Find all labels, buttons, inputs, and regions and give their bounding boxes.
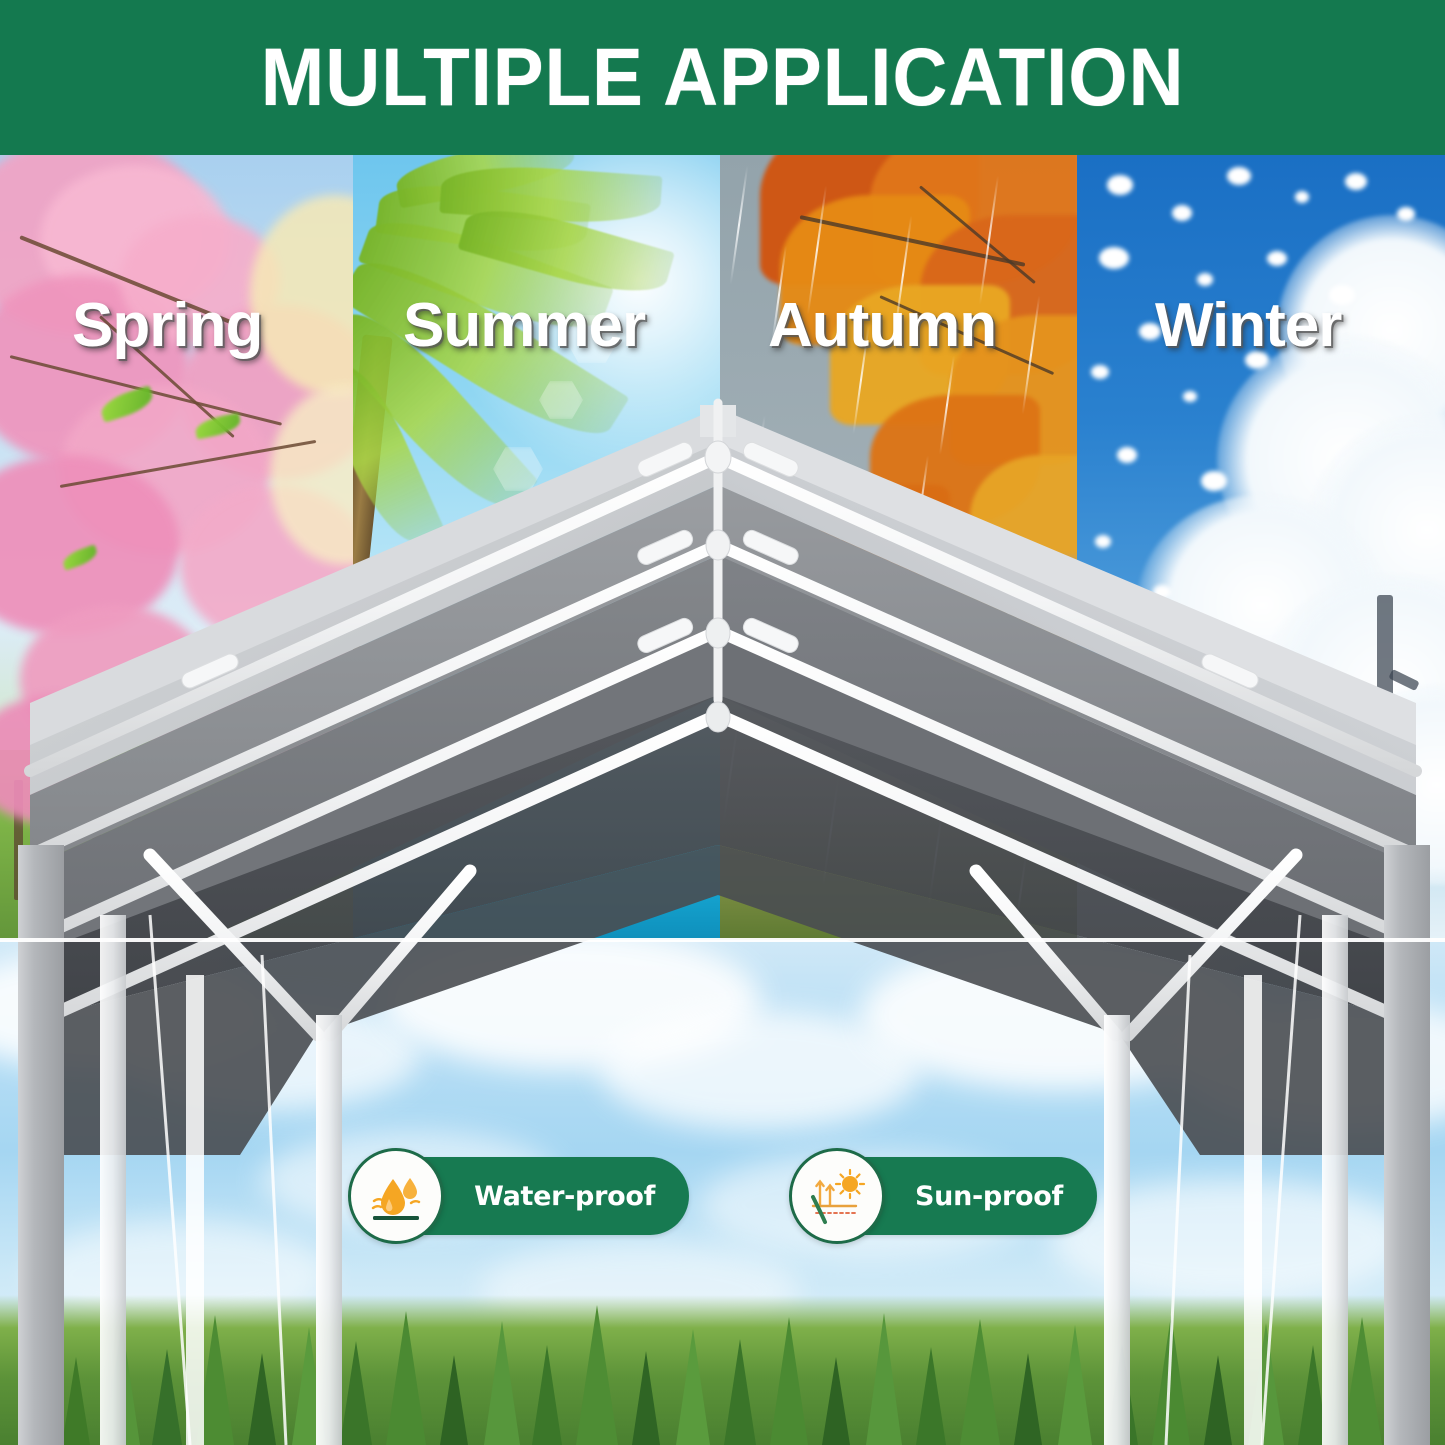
page-title: MULTIPLE APPLICATION [261, 37, 1185, 119]
season-panel-spring: Spring [0, 155, 353, 940]
season-panel-summer: Summer [353, 155, 720, 940]
badge-label-sun-proof: Sun-proof [915, 1181, 1063, 1212]
product-feature-image: Spring Summer [0, 0, 1445, 1445]
summer-sea [353, 820, 720, 940]
water-drop-icon [348, 1148, 444, 1244]
season-panel-winter: Winter [1077, 155, 1445, 940]
autumn-ground [720, 820, 1077, 940]
badge-sun-proof: Sun-proof [789, 1148, 1097, 1244]
badge-water-proof: Water-proof [348, 1148, 689, 1244]
badge-label-water-proof: Water-proof [474, 1181, 655, 1212]
feature-badges: Water-proof [0, 1148, 1445, 1244]
pine-forest [0, 1295, 1445, 1445]
header-banner: MULTIPLE APPLICATION [0, 0, 1445, 155]
season-label-autumn: Autumn [768, 295, 996, 357]
seasons-strip: Spring Summer [0, 155, 1445, 940]
season-panel-autumn: Autumn [720, 155, 1077, 940]
season-label-spring: Spring [72, 295, 262, 357]
section-divider [0, 938, 1445, 942]
season-label-summer: Summer [403, 295, 645, 357]
season-label-winter: Winter [1155, 295, 1341, 357]
sun-ray-canopy-icon [789, 1148, 885, 1244]
